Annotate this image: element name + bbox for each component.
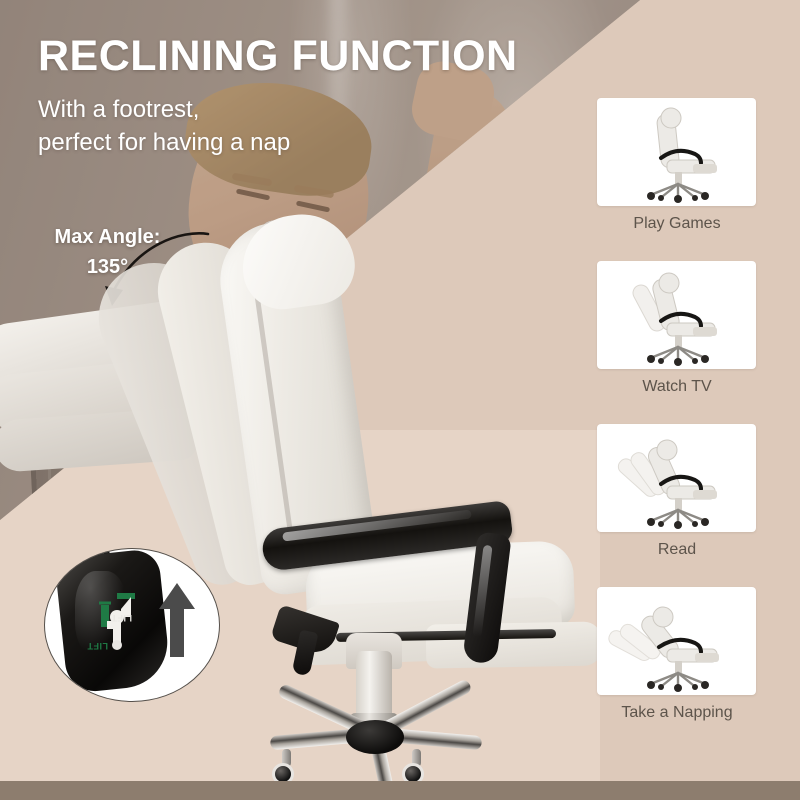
footrest <box>426 621 603 668</box>
thumbnail-card[interactable] <box>597 587 756 695</box>
thumbnail-item-take-a-napping[interactable]: Take a Napping <box>597 587 757 722</box>
chair-reclined-icon <box>597 261 756 369</box>
thumbnail-item-read[interactable]: Read <box>597 424 757 559</box>
lever-detail-inset: LIFT LIFT <box>44 548 220 702</box>
reclining-office-chair-illustration <box>150 215 570 785</box>
thumbnail-item-watch-tv[interactable]: Watch TV <box>597 261 757 396</box>
base-hub <box>346 720 404 754</box>
lift-label: LIFT <box>111 613 132 623</box>
subtitle-line-2: perfect for having a nap <box>38 126 290 159</box>
subtitle-line-1: With a footrest, <box>38 93 290 126</box>
thumbnail-label: Read <box>597 541 757 559</box>
footer-bar <box>0 781 800 800</box>
page-title: RECLINING FUNCTION <box>38 35 518 78</box>
lift-label-green: LIFT <box>87 641 108 651</box>
thumbnail-label: Take a Napping <box>597 704 757 722</box>
use-case-thumbnail-rail: Play Games <box>597 98 757 750</box>
product-infographic: RECLINING FUNCTION With a footrest, perf… <box>0 0 800 800</box>
page-subtitle: With a footrest, perfect for having a na… <box>38 93 290 159</box>
thumbnail-card[interactable] <box>597 98 756 206</box>
chair-reclined-more-icon <box>597 424 756 532</box>
thumbnail-item-play-games[interactable]: Play Games <box>597 98 757 233</box>
thumbnail-card[interactable] <box>597 424 756 532</box>
thumbnail-card[interactable] <box>597 261 756 369</box>
chair-upright-icon <box>597 98 756 206</box>
up-arrow-icon <box>155 581 199 659</box>
thumbnail-label: Play Games <box>597 215 757 233</box>
chair-flat-icon <box>597 587 756 695</box>
thumbnail-label: Watch TV <box>597 378 757 396</box>
